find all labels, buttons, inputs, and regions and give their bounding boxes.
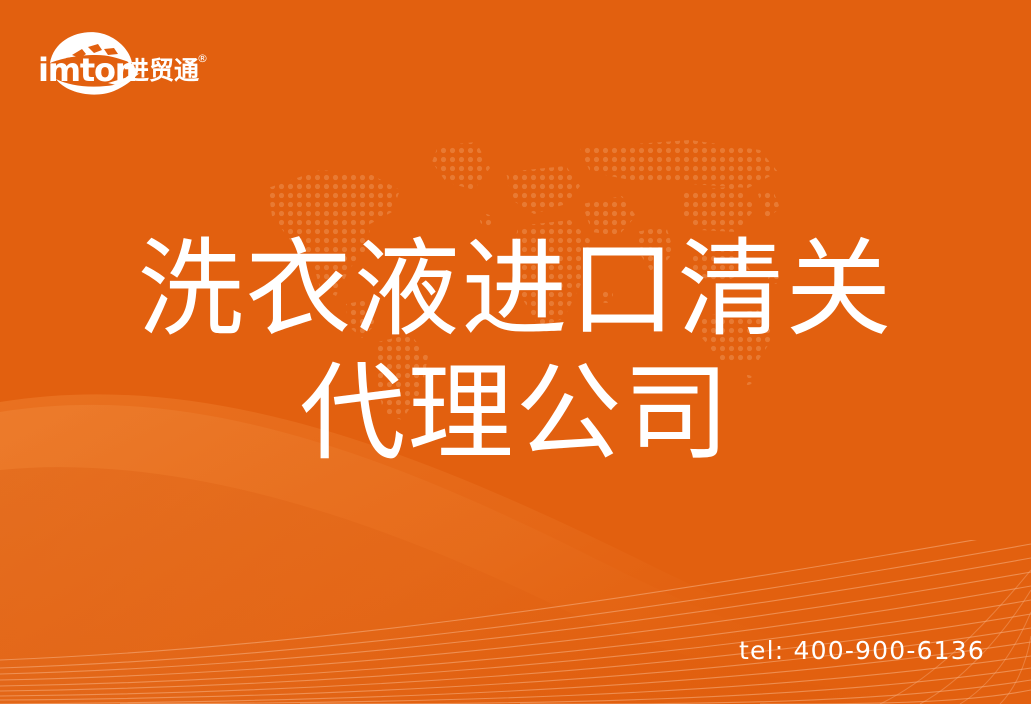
logo-latin-wordmark: imton xyxy=(38,51,136,89)
headline-line-1: 洗衣液进口清关 xyxy=(0,228,1031,352)
logo-chinese-wordmark: 进贸通 xyxy=(124,56,199,85)
contact-telephone: tel: 400-900-6136 xyxy=(739,636,985,665)
fan-line-decoration xyxy=(0,540,1031,704)
registered-trademark-symbol: ® xyxy=(197,52,208,65)
imton-logo: imton 进贸通 ® xyxy=(36,27,216,99)
headline-line-2: 代理公司 xyxy=(0,352,1031,476)
promo-banner: imton 进贸通 ® 洗衣液进口清关 代理公司 tel: 400-900-61… xyxy=(0,0,1031,704)
page-title: 洗衣液进口清关 代理公司 xyxy=(0,228,1031,476)
